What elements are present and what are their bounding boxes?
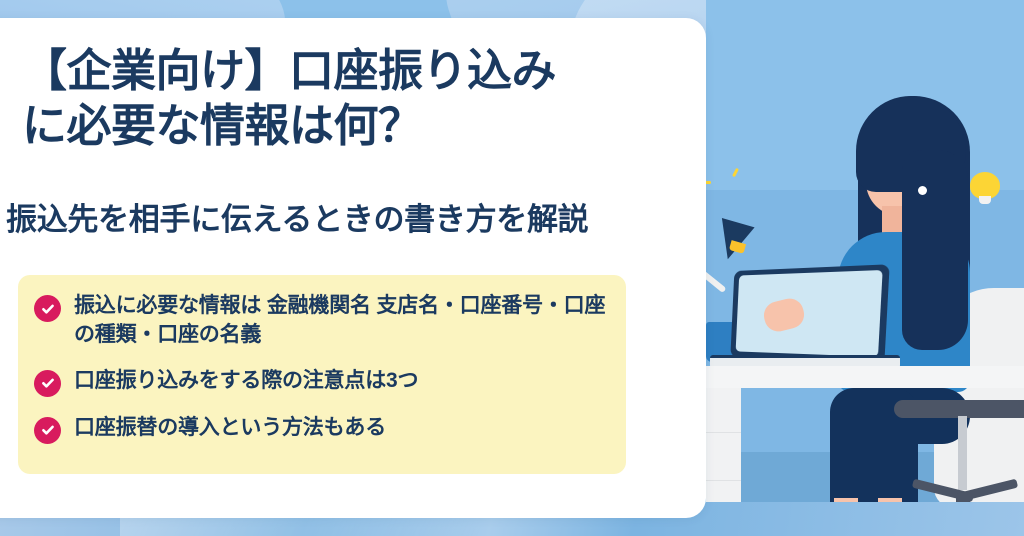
- page-subtitle: 振込先を相手に伝えるときの書き方を解説: [6, 200, 696, 240]
- laptop-display: [736, 270, 883, 357]
- check-circle-icon: [34, 370, 61, 397]
- lightbulb-glass: [970, 172, 1000, 199]
- page-title-line-1: 【企業向け】口座振り込み: [22, 44, 692, 99]
- list-item-label: 振込に必要な情報は 金融機関名 支店名・口座番号・口座の種類・口座の名義: [74, 292, 614, 350]
- woman-working-at-desk-illustration: [706, 0, 1024, 536]
- lightbulb-base: [979, 196, 991, 204]
- check-circle-icon: [34, 417, 61, 444]
- drawer-divider-2: [706, 480, 741, 481]
- list-item-label: 口座振り込みをする際の注意点は3つ: [74, 367, 418, 396]
- lightbulb-ray-2: [706, 181, 711, 184]
- earring: [918, 186, 927, 195]
- highlights-list: 振込に必要な情報は 金融機関名 支店名・口座番号・口座の種類・口座の名義 口座振…: [34, 292, 620, 444]
- lightbulb-icon: [970, 172, 1000, 206]
- page-title-line-2: に必要な情報は何？: [22, 99, 692, 154]
- desk-top: [706, 366, 1024, 388]
- list-item-label: 口座振替の導入という方法もある: [74, 414, 386, 443]
- list-item: 口座振替の導入という方法もある: [34, 414, 620, 444]
- hair-strand: [902, 150, 968, 350]
- banner-image: 【企業向け】口座振り込み に必要な情報は何？ 振込先を相手に伝えるときの書き方を…: [0, 0, 1024, 536]
- drawer-divider-1: [706, 432, 741, 433]
- page-title: 【企業向け】口座振り込み に必要な情報は何？: [22, 44, 692, 154]
- check-circle-icon: [34, 295, 61, 322]
- list-item: 振込に必要な情報は 金融機関名 支店名・口座番号・口座の種類・口座の名義: [34, 292, 620, 350]
- office-chair-pole: [958, 416, 967, 490]
- list-item: 口座振り込みをする際の注意点は3つ: [34, 367, 620, 397]
